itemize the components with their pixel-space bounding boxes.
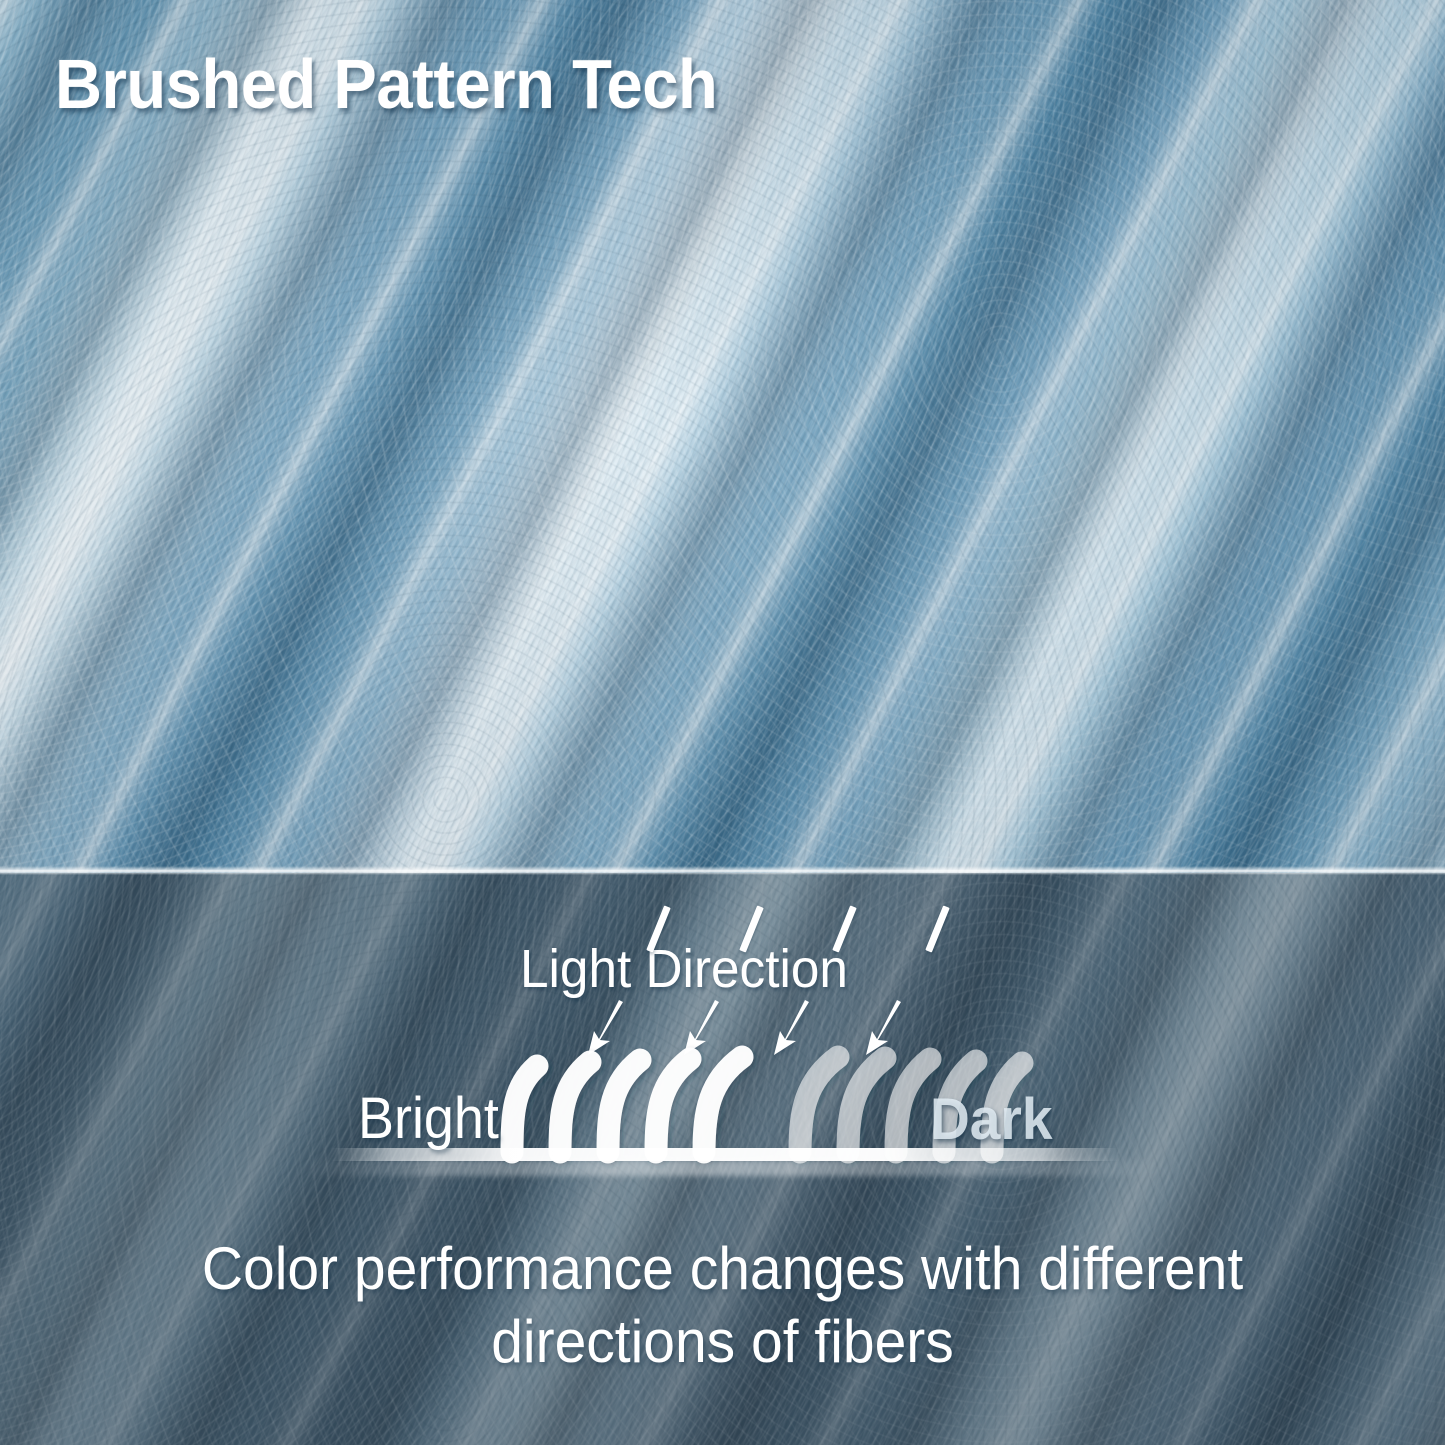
product-feature-image: Brushed Pattern Tech Light Direction [0,0,1445,1445]
down-left-arrow-icon [582,1000,628,1058]
down-left-arrow-icon [860,1000,906,1058]
bright-label: Bright [358,1085,499,1152]
fabric-photo-top [0,0,1445,873]
fabric-vignette-top [0,0,1445,873]
dark-label: Dark [930,1086,1053,1153]
caption-text: Color performance changes with different… [0,1232,1445,1378]
down-left-arrow-icon [678,1000,724,1058]
light-direction-label: Light Direction [520,938,848,1000]
down-left-arrow-icon [768,1000,814,1058]
fabric-baseline-glow [300,1160,1160,1176]
page-title: Brushed Pattern Tech [55,44,717,124]
caption-line-1: Color performance changes with different [36,1232,1409,1305]
caption-line-2: directions of fibers [36,1305,1409,1378]
panel-divider [0,866,1445,875]
